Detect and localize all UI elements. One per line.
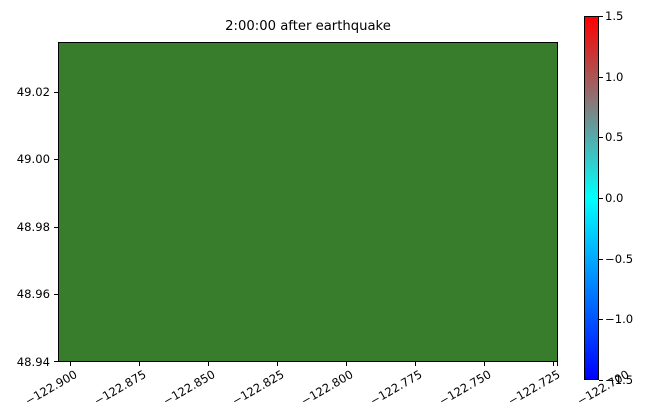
colorbar-tick-mark: [599, 380, 603, 381]
heatmap-region: [59, 43, 557, 361]
x-tick-mark: [208, 362, 209, 366]
y-tick-mark: [54, 227, 58, 228]
colorbar-tick-label: 0.0: [605, 192, 623, 204]
colorbar-tick-label: 0.5: [605, 131, 623, 143]
x-tick-mark: [346, 362, 347, 366]
x-tick-label: −122.725: [491, 368, 563, 417]
x-tick-mark: [553, 362, 554, 366]
y-tick-label: 48.98: [2, 221, 50, 233]
x-tick-mark: [277, 362, 278, 366]
x-tick-mark: [557, 362, 558, 366]
colorbar-gradient: [585, 17, 598, 379]
x-tick-label: −122.825: [214, 368, 286, 417]
colorbar-tick-label: 1.5: [605, 10, 623, 22]
y-tick-mark: [54, 159, 58, 160]
matplotlib-figure: 2:00:00 after earthquake 48.94 48.96 48.…: [0, 0, 658, 419]
colorbar-tick-label: −1.0: [605, 313, 633, 325]
y-tick-label: 49.00: [2, 153, 50, 165]
x-tick-label: −122.875: [76, 368, 148, 417]
colorbar-tick-label: 1.0: [605, 71, 623, 83]
x-tick-label: −122.800: [283, 368, 355, 417]
x-tick-label: −122.750: [421, 368, 493, 417]
x-tick-mark: [484, 362, 485, 366]
colorbar-tick-mark: [599, 77, 603, 78]
y-tick-mark: [54, 361, 58, 362]
y-tick-label: 48.96: [2, 288, 50, 300]
x-tick-mark: [415, 362, 416, 366]
colorbar-tick-mark: [599, 319, 603, 320]
plot-axes[interactable]: [58, 42, 558, 362]
colorbar-tick-mark: [599, 198, 603, 199]
y-tick-label: 49.02: [2, 86, 50, 98]
colorbar-tick-mark: [599, 137, 603, 138]
colorbar-tick-mark: [599, 16, 603, 17]
y-tick-label: 48.94: [2, 356, 50, 368]
y-tick-mark: [54, 294, 58, 295]
x-tick-label: −122.775: [352, 368, 424, 417]
y-tick-mark: [54, 92, 58, 93]
colorbar-tick-label: −0.5: [605, 253, 633, 265]
colorbar-tick-mark: [599, 259, 603, 260]
x-tick-mark: [139, 362, 140, 366]
chart-title: 2:00:00 after earthquake: [58, 19, 558, 35]
colorbar-tick-label: −1.5: [605, 374, 633, 386]
x-tick-label: −122.850: [145, 368, 217, 417]
colorbar[interactable]: [584, 16, 599, 380]
x-tick-label: −122.900: [7, 368, 79, 417]
x-tick-mark: [70, 362, 71, 366]
